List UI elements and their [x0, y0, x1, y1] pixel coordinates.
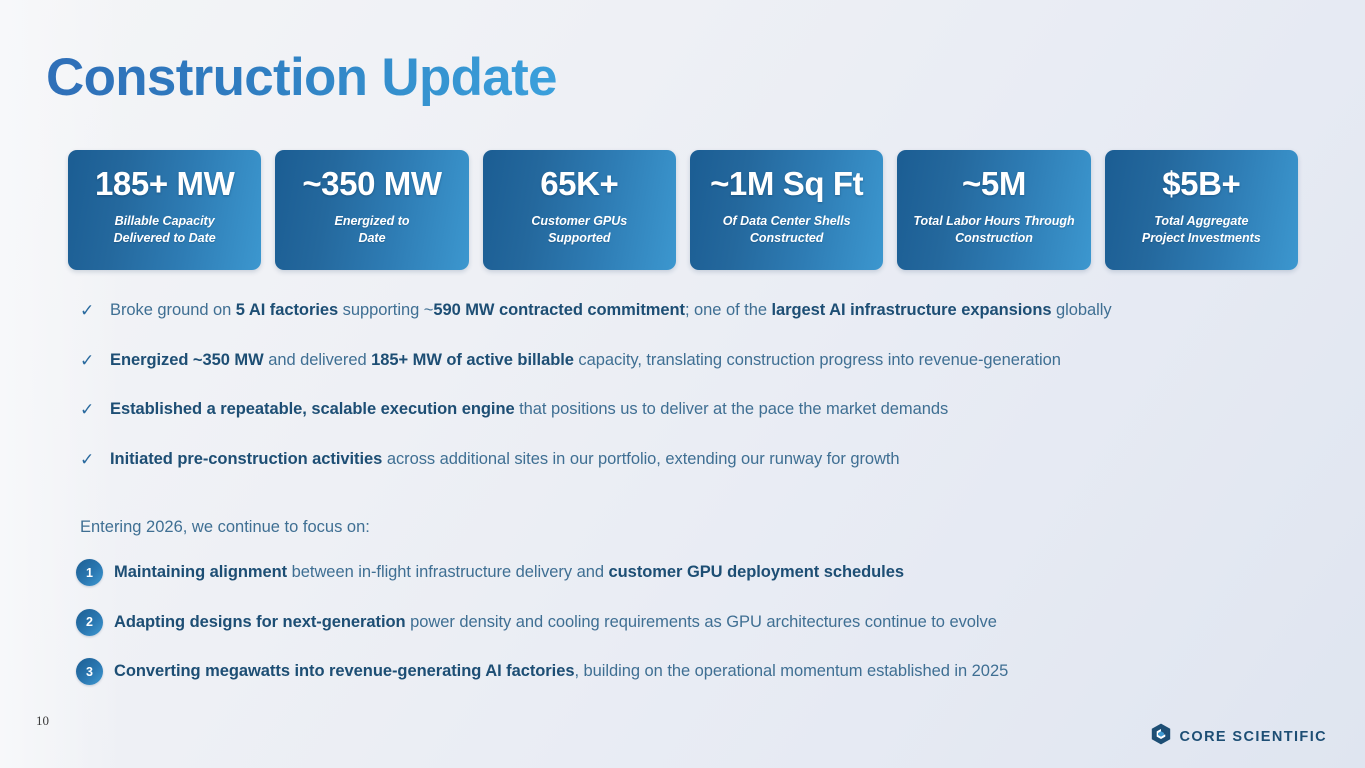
stat-value: ~5M — [962, 166, 1026, 203]
check-bullet-text: Energized ~350 MW and delivered 185+ MW … — [110, 350, 1061, 370]
stat-value: 65K+ — [540, 166, 618, 203]
check-icon: ✓ — [80, 449, 110, 470]
check-bullet-text: Initiated pre-construction activities ac… — [110, 449, 900, 469]
check-bullet-list: ✓Broke ground on 5 AI factories supporti… — [80, 300, 1330, 498]
list-number-badge: 3 — [76, 658, 103, 685]
check-icon: ✓ — [80, 350, 110, 371]
focus-intro-text: Entering 2026, we continue to focus on: — [80, 516, 370, 538]
numbered-list-item: 1Maintaining alignment between in-flight… — [76, 562, 1336, 612]
stat-label: Of Data Center ShellsConstructed — [717, 213, 857, 248]
numbered-list-text: Converting megawatts into revenue-genera… — [114, 661, 1008, 682]
company-logo: CORE SCIENTIFIC — [1149, 722, 1327, 751]
check-icon: ✓ — [80, 300, 110, 321]
check-bullet-text: Established a repeatable, scalable execu… — [110, 399, 948, 419]
check-bullet-item: ✓Broke ground on 5 AI factories supporti… — [80, 300, 1330, 350]
core-scientific-hex-c-icon — [1149, 722, 1173, 751]
stat-card: 185+ MWBillable CapacityDelivered to Dat… — [68, 150, 261, 270]
stat-card: $5B+Total AggregateProject Investments — [1105, 150, 1298, 270]
numbered-list-text: Maintaining alignment between in-flight … — [114, 562, 904, 583]
stat-label: Total Labor Hours ThroughConstruction — [907, 213, 1080, 248]
stat-card-row: 185+ MWBillable CapacityDelivered to Dat… — [68, 150, 1298, 270]
numbered-list-item: 3Converting megawatts into revenue-gener… — [76, 661, 1336, 711]
check-icon: ✓ — [80, 399, 110, 420]
stat-label: Billable CapacityDelivered to Date — [108, 213, 222, 248]
numbered-focus-list: 1Maintaining alignment between in-flight… — [76, 562, 1336, 711]
check-bullet-text: Broke ground on 5 AI factories supportin… — [110, 300, 1112, 320]
stat-label: Total AggregateProject Investments — [1136, 213, 1267, 248]
stat-card: ~350 MWEnergized toDate — [275, 150, 468, 270]
stat-card: ~1M Sq FtOf Data Center ShellsConstructe… — [690, 150, 883, 270]
check-bullet-item: ✓Initiated pre-construction activities a… — [80, 449, 1330, 499]
numbered-list-item: 2Adapting designs for next-generation po… — [76, 612, 1336, 662]
stat-value: $5B+ — [1162, 166, 1240, 203]
stat-card: ~5MTotal Labor Hours ThroughConstruction — [897, 150, 1090, 270]
slide-canvas: Construction Update 185+ MWBillable Capa… — [0, 0, 1365, 768]
logo-wordmark: CORE SCIENTIFIC — [1180, 729, 1327, 745]
check-bullet-item: ✓Established a repeatable, scalable exec… — [80, 399, 1330, 449]
stat-label: Customer GPUsSupported — [525, 213, 633, 248]
stat-card: 65K+Customer GPUsSupported — [483, 150, 676, 270]
stat-value: 185+ MW — [95, 166, 234, 203]
list-number-badge: 2 — [76, 609, 103, 636]
check-bullet-item: ✓Energized ~350 MW and delivered 185+ MW… — [80, 350, 1330, 400]
stat-value: ~1M Sq Ft — [710, 166, 863, 203]
stat-value: ~350 MW — [302, 166, 441, 203]
page-number: 10 — [36, 713, 49, 729]
numbered-list-text: Adapting designs for next-generation pow… — [114, 612, 997, 633]
stat-label: Energized toDate — [328, 213, 415, 248]
list-number-badge: 1 — [76, 559, 103, 586]
page-title: Construction Update — [46, 48, 557, 107]
